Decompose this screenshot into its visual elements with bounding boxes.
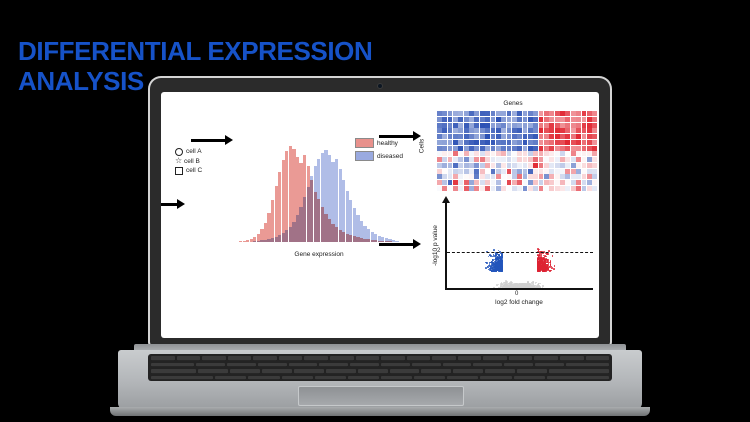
keyboard-key[interactable]	[151, 363, 194, 368]
keyboard-key[interactable]	[294, 369, 324, 374]
volcano-point	[511, 281, 513, 283]
heatmap-cell	[437, 169, 442, 174]
heatmap-cell	[485, 111, 490, 116]
heatmap-cell	[458, 134, 463, 139]
heatmap-cell	[565, 117, 570, 122]
circle-marker-icon	[175, 148, 183, 156]
volcano-point	[535, 282, 537, 284]
keyboard-key[interactable]	[202, 356, 226, 361]
heatmap-cell	[587, 128, 592, 133]
heatmap-cell	[501, 174, 506, 179]
keyboard-key[interactable]	[421, 369, 451, 374]
heatmap-cell	[576, 134, 581, 139]
legend-item-diseased: diseased	[355, 151, 403, 161]
keyboard-key[interactable]	[483, 356, 507, 361]
heatmap-cell	[496, 180, 501, 185]
heatmap-cell	[458, 174, 463, 179]
heatmap-cell	[523, 140, 528, 145]
heatmap-cell	[544, 117, 549, 122]
volcano-point	[498, 284, 500, 286]
heatmap-cell	[555, 117, 560, 122]
heatmap-cell	[560, 134, 565, 139]
heatmap-cell	[442, 180, 447, 185]
heatmap-cell	[549, 146, 554, 151]
heatmap-cell	[480, 186, 485, 191]
heatmap-cell	[544, 157, 549, 162]
heatmap-cell	[555, 163, 560, 168]
cell-legend-item: ☆ cell B	[175, 157, 235, 167]
keyboard-key[interactable]	[282, 376, 313, 381]
laptop-illustration: cell A ☆ cell B cell C	[110, 78, 650, 422]
heatmap-cell	[565, 140, 570, 145]
heatmap-cell	[560, 163, 565, 168]
heatmap-cell	[448, 174, 453, 179]
heatmap-cell	[480, 111, 485, 116]
heatmap-cell	[458, 117, 463, 122]
heatmap-cell	[453, 163, 458, 168]
keyboard-key[interactable]	[248, 376, 279, 381]
heatmap-cell	[571, 151, 576, 156]
heatmap-cell	[587, 151, 592, 156]
keyboard-key[interactable]	[262, 369, 292, 374]
heatmap-cell	[576, 174, 581, 179]
heatmap-cell	[582, 146, 587, 151]
heatmap-cell	[517, 134, 522, 139]
heatmap-cell	[539, 163, 544, 168]
keyboard-key[interactable]	[480, 376, 511, 381]
heatmap-cell	[437, 128, 442, 133]
keyboard-key[interactable]	[315, 376, 346, 381]
heatmap-cell	[437, 186, 442, 191]
heatmap-cell	[442, 117, 447, 122]
heatmap-cell	[453, 123, 458, 128]
heatmap-cell	[442, 186, 447, 191]
heatmap-cell	[539, 186, 544, 191]
keyboard-key[interactable]	[330, 356, 354, 361]
heatmap-cell	[512, 169, 517, 174]
volcano-point	[490, 255, 492, 257]
heatmap-cell	[458, 140, 463, 145]
keyboard-key[interactable]	[230, 369, 260, 374]
laptop-screen: cell A ☆ cell B cell C	[161, 92, 599, 338]
heatmap-cell	[485, 128, 490, 133]
heatmap-cell	[485, 180, 490, 185]
heatmap-cell	[512, 111, 517, 116]
keyboard-key[interactable]	[350, 363, 379, 368]
heatmap-cell	[464, 111, 469, 116]
keyboard-key[interactable]	[514, 376, 545, 381]
heatmap-cell	[571, 111, 576, 116]
heatmap-cell	[458, 123, 463, 128]
keyboard-key[interactable]	[151, 376, 213, 381]
keyboard-key[interactable]	[390, 369, 420, 374]
heatmap-cell	[544, 128, 549, 133]
heatmap-cell	[576, 186, 581, 191]
keyboard-row	[148, 363, 612, 368]
heatmap-cell	[507, 174, 512, 179]
heatmap-cell	[592, 186, 597, 191]
heatmap-cell	[582, 180, 587, 185]
keyboard-key[interactable]	[196, 363, 225, 368]
volcano-point	[539, 283, 541, 285]
heatmap-cell	[437, 111, 442, 116]
heatmap-cell	[565, 163, 570, 168]
heatmap-cell	[587, 163, 592, 168]
heatmap-cell	[496, 174, 501, 179]
heatmap-cell	[464, 169, 469, 174]
heatmap-cell	[507, 117, 512, 122]
heatmap-cell	[442, 134, 447, 139]
heatmap-cell	[565, 111, 570, 116]
heatmap-cell	[464, 157, 469, 162]
heatmap-cell	[544, 174, 549, 179]
heatmap-cell	[437, 123, 442, 128]
cell-legend-item: cell C	[175, 166, 235, 176]
heatmap-cell	[448, 111, 453, 116]
heatmap-cell	[480, 151, 485, 156]
heatmap-cell	[501, 186, 506, 191]
cell-legend-label: cell A	[186, 147, 202, 157]
heatmap-cell	[491, 134, 496, 139]
heatmap-cell	[464, 151, 469, 156]
volcano-y-axis-label: -log10 p value	[432, 225, 439, 266]
keyboard-key[interactable]	[509, 356, 533, 361]
heatmap-cell	[539, 128, 544, 133]
heatmap-cell	[474, 134, 479, 139]
heatmap-cell	[560, 169, 565, 174]
keyboard-key[interactable]	[414, 376, 445, 381]
heatmap-cell	[507, 123, 512, 128]
keyboard-key[interactable]	[534, 356, 558, 361]
heatmap-cell	[469, 157, 474, 162]
volcano-point	[514, 284, 516, 286]
heatmap-cell	[442, 174, 447, 179]
keyboard-key[interactable]	[358, 369, 388, 374]
heatmap-cell	[507, 128, 512, 133]
keyboard-key[interactable]	[304, 356, 328, 361]
heatmap-cell	[592, 163, 597, 168]
star-marker-icon: ☆	[175, 158, 181, 164]
keyboard-key[interactable]	[412, 363, 441, 368]
heatmap-cell	[448, 123, 453, 128]
heatmap-cell	[539, 146, 544, 151]
heatmap-cell	[565, 186, 570, 191]
heatmap-cell	[507, 134, 512, 139]
heatmap-cell	[571, 117, 576, 122]
keyboard-key[interactable]	[279, 356, 303, 361]
heatmap-cell	[453, 134, 458, 139]
volcano-point	[553, 268, 555, 270]
heatmap-cell	[523, 174, 528, 179]
heatmap-cell	[587, 169, 592, 174]
heatmap-cell	[474, 151, 479, 156]
laptop-trackpad	[298, 386, 464, 406]
heatmap-cell	[523, 163, 528, 168]
heatmap-cell	[565, 123, 570, 128]
heatmap-cell	[512, 128, 517, 133]
keyboard-key[interactable]	[549, 369, 609, 374]
heatmap-cell	[533, 163, 538, 168]
heatmap-cell	[469, 163, 474, 168]
heatmap-cell	[517, 180, 522, 185]
heatmap-cell	[517, 186, 522, 191]
heatmap-cell	[512, 134, 517, 139]
keyboard-key[interactable]	[517, 369, 547, 374]
slide-canvas: DIFFERENTIAL EXPRESSION ANALYSIS cell A	[0, 0, 750, 422]
heatmap-cell	[565, 180, 570, 185]
heatmap-cell	[582, 163, 587, 168]
heatmap-cell	[592, 128, 597, 133]
heatmap-cell	[507, 140, 512, 145]
heatmap-cell	[523, 117, 528, 122]
heatmap-cell	[528, 128, 533, 133]
keyboard-key[interactable]	[432, 356, 456, 361]
heatmap-cell	[469, 169, 474, 174]
heatmap-cell	[485, 157, 490, 162]
keyboard-key[interactable]	[586, 356, 610, 361]
heatmap-cell	[469, 117, 474, 122]
heatmap-cell	[453, 128, 458, 133]
keyboard-key[interactable]	[177, 356, 201, 361]
heatmap-cell	[517, 169, 522, 174]
volcano-point	[544, 262, 546, 264]
cell-legend-label: cell C	[186, 166, 202, 176]
keyboard-key[interactable]	[198, 369, 228, 374]
volcano-point	[541, 254, 543, 256]
heatmap-cell	[523, 128, 528, 133]
heatmap-cell	[549, 140, 554, 145]
volcano-threshold-line	[447, 252, 593, 253]
cell-legend-item: cell A	[175, 147, 235, 157]
keyboard-key[interactable]	[381, 356, 405, 361]
heatmap-cell	[464, 186, 469, 191]
keyboard-key[interactable]	[215, 376, 246, 381]
heatmap-cell	[582, 174, 587, 179]
expression-histogram: Gene expression healthy diseased	[239, 140, 399, 258]
keyboard-key[interactable]	[151, 356, 175, 361]
heatmap-cell	[571, 134, 576, 139]
heatmap-cell	[528, 157, 533, 162]
heatmap-cell	[571, 146, 576, 151]
heatmap-cell	[592, 151, 597, 156]
heatmap-cell	[539, 134, 544, 139]
heatmap-cell	[448, 186, 453, 191]
keyboard-key[interactable]	[547, 376, 609, 381]
volcano-x-axis	[445, 288, 593, 290]
heatmap-cell	[480, 157, 485, 162]
keyboard-key[interactable]	[381, 376, 412, 381]
volcano-point	[503, 287, 505, 288]
heatmap-cell	[453, 111, 458, 116]
keyboard-key[interactable]	[348, 376, 379, 381]
heatmap-cell	[496, 117, 501, 122]
heatmap-cell	[464, 128, 469, 133]
heatmap-cell	[485, 140, 490, 145]
heatmap-cell	[501, 157, 506, 162]
heatmap-cell	[539, 111, 544, 116]
keyboard-key[interactable]	[453, 369, 483, 374]
keyboard-key[interactable]	[504, 363, 533, 368]
heatmap-cell	[491, 128, 496, 133]
heatmap-cell	[469, 180, 474, 185]
heatmap-cell	[480, 169, 485, 174]
keyboard-key[interactable]	[443, 363, 472, 368]
heatmap-cell	[491, 186, 496, 191]
heatmap-cell	[592, 180, 597, 185]
heatmap-cell	[592, 174, 597, 179]
heatmap-cell	[533, 186, 538, 191]
heatmap-cell	[485, 123, 490, 128]
heatmap-cell	[442, 169, 447, 174]
heatmap-cell	[539, 174, 544, 179]
heatmap-cell	[549, 163, 554, 168]
heatmap-cell	[549, 157, 554, 162]
heatmap-cell	[512, 163, 517, 168]
keyboard-key[interactable]	[407, 356, 431, 361]
keyboard-key[interactable]	[151, 369, 196, 374]
heatmap-cell	[517, 140, 522, 145]
heatmap-cell	[523, 151, 528, 156]
heatmap-cell	[437, 117, 442, 122]
heatmap-cell	[544, 180, 549, 185]
heatmap-cell	[437, 134, 442, 139]
heatmap-cell	[474, 157, 479, 162]
heatmap-cell	[512, 146, 517, 151]
keyboard-row	[148, 369, 612, 374]
volcano-point	[541, 268, 543, 270]
keyboard-key[interactable]	[566, 363, 609, 368]
heatmap-cell	[517, 117, 522, 122]
volcano-point	[545, 256, 547, 258]
volcano-point	[540, 259, 542, 261]
keyboard-key[interactable]	[535, 363, 564, 368]
heatmap-cell	[464, 123, 469, 128]
heatmap-cell	[512, 174, 517, 179]
heatmap-cell	[555, 174, 560, 179]
legend-label-healthy: healthy	[377, 140, 398, 147]
heatmap-cell	[485, 163, 490, 168]
heatmap-cell	[442, 157, 447, 162]
heatmap-cell	[512, 186, 517, 191]
heatmap-cell	[582, 128, 587, 133]
heatmap-cell	[592, 146, 597, 151]
heatmap-cell	[501, 140, 506, 145]
keyboard-key[interactable]	[258, 363, 287, 368]
heatmap-cell	[576, 180, 581, 185]
heatmap-cell	[523, 186, 528, 191]
keyboard-key[interactable]	[253, 356, 277, 361]
heatmap-cell	[491, 180, 496, 185]
volcano-point	[497, 268, 499, 270]
heatmap-cell	[565, 151, 570, 156]
heatmap-cell	[533, 180, 538, 185]
heatmap-cell	[560, 186, 565, 191]
heatmap-cell	[528, 180, 533, 185]
heatmap-cell	[533, 117, 538, 122]
heatmap-cell	[587, 111, 592, 116]
heatmap-cell	[544, 123, 549, 128]
heatmap-cell	[448, 140, 453, 145]
keyboard-key[interactable]	[356, 356, 380, 361]
heatmap-cell	[523, 169, 528, 174]
heatmap-cell	[469, 140, 474, 145]
keyboard-key[interactable]	[289, 363, 318, 368]
heatmap-cell	[544, 146, 549, 151]
heatmap-cell	[576, 117, 581, 122]
heatmap-cell	[496, 186, 501, 191]
heatmap-cell	[480, 163, 485, 168]
heatmap-cell	[491, 117, 496, 122]
heatmap-cell	[549, 117, 554, 122]
heatmap-cell	[437, 157, 442, 162]
keyboard-key[interactable]	[458, 356, 482, 361]
heatmap-cell	[501, 128, 506, 133]
heatmap-cell	[549, 174, 554, 179]
heatmap-cell	[533, 157, 538, 162]
keyboard-key[interactable]	[227, 363, 256, 368]
keyboard-key[interactable]	[319, 363, 348, 368]
keyboard-key[interactable]	[560, 356, 584, 361]
keyboard-key[interactable]	[447, 376, 478, 381]
histogram-x-axis-label: Gene expression	[239, 251, 399, 258]
heatmap-cell	[517, 146, 522, 151]
heatmap-cell	[485, 186, 490, 191]
heatmap-cell	[549, 169, 554, 174]
volcano-plot: -log10 p value 2 0 log2 fold change	[429, 202, 597, 312]
heatmap-cell	[437, 180, 442, 185]
heatmap-cell	[458, 163, 463, 168]
laptop-keyboard	[148, 354, 612, 381]
heatmap-cell	[474, 163, 479, 168]
heatmap-cell	[592, 117, 597, 122]
heatmap-cell	[528, 186, 533, 191]
keyboard-key[interactable]	[485, 369, 515, 374]
volcano-point	[521, 283, 523, 285]
heatmap-cell	[458, 128, 463, 133]
keyboard-key[interactable]	[381, 363, 410, 368]
heatmap-cell	[507, 157, 512, 162]
laptop-base	[118, 350, 642, 410]
heatmap-cell	[582, 111, 587, 116]
heatmap-cell	[496, 146, 501, 151]
heatmap-cell	[523, 123, 528, 128]
heatmap-cell	[501, 134, 506, 139]
heatmap-cell	[448, 180, 453, 185]
heatmap-cell	[453, 169, 458, 174]
keyboard-key[interactable]	[228, 356, 252, 361]
heatmap-cell	[480, 123, 485, 128]
heatmap-cell	[458, 186, 463, 191]
volcano-point	[492, 256, 494, 258]
heatmap-cell	[592, 140, 597, 145]
heatmap-cell	[496, 111, 501, 116]
heatmap-cell	[448, 128, 453, 133]
heatmap-cell	[587, 134, 592, 139]
heatmap-cell	[474, 111, 479, 116]
heatmap-cell	[576, 111, 581, 116]
volcano-point	[488, 256, 490, 258]
heatmap-cell	[442, 146, 447, 151]
volcano-point	[538, 255, 540, 257]
heatmap-cell	[576, 163, 581, 168]
keyboard-key[interactable]	[473, 363, 502, 368]
heatmap-cell	[528, 134, 533, 139]
heatmap-y-axis-label: Cells	[419, 139, 426, 153]
keyboard-row	[148, 376, 612, 381]
keyboard-key[interactable]	[326, 369, 356, 374]
heatmap-cell	[442, 123, 447, 128]
heatmap-cell	[512, 157, 517, 162]
